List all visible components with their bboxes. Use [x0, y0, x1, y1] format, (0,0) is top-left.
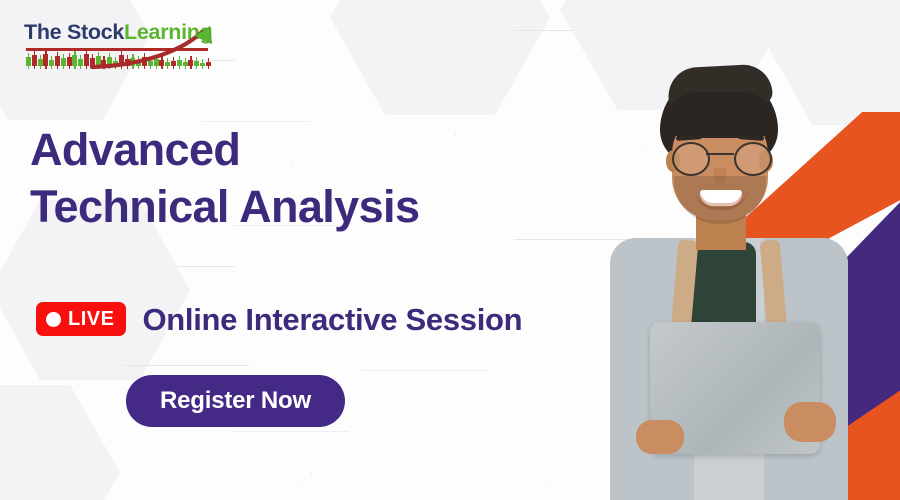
- candle-wick: [28, 53, 29, 69]
- candle-wick: [173, 57, 174, 69]
- candle-wick: [202, 59, 203, 69]
- candle-wick: [34, 51, 35, 69]
- logo-wordmark: The StockLearning: [24, 22, 224, 44]
- lens-left: [672, 142, 710, 176]
- candle-wick: [167, 58, 168, 69]
- candle: [142, 57, 147, 66]
- candle-wick: [208, 58, 209, 69]
- logo-text-secondary: Learning: [124, 20, 212, 44]
- candle-wick: [150, 57, 151, 69]
- candle: [113, 61, 118, 66]
- candle: [49, 60, 54, 66]
- candle-wick: [185, 58, 186, 69]
- candle: [107, 57, 112, 66]
- candle: [159, 60, 164, 66]
- candle-wick: [127, 55, 128, 69]
- candle-wick: [86, 50, 87, 69]
- candle-wick: [115, 57, 116, 69]
- candle-wick: [156, 55, 157, 69]
- candle: [96, 56, 101, 66]
- candlestick-chart-icon: [26, 52, 212, 68]
- promo-banner: The StockLearning Advanced Technical Ana…: [0, 0, 900, 500]
- candle-wick: [80, 55, 81, 69]
- candle-wick: [196, 57, 197, 69]
- glasses-bridge: [706, 153, 734, 155]
- candle-wick: [138, 56, 139, 69]
- candle: [136, 60, 141, 66]
- candle: [38, 59, 43, 66]
- candle-wick: [45, 50, 46, 69]
- brand-logo[interactable]: The StockLearning: [24, 22, 224, 78]
- student-photo: [598, 72, 860, 500]
- live-session-row: LIVE Online Interactive Session: [36, 302, 522, 336]
- candle-wick: [144, 53, 145, 69]
- candle: [26, 57, 31, 66]
- candle: [90, 58, 95, 66]
- smile: [700, 190, 742, 206]
- live-badge-label: LIVE: [68, 309, 114, 329]
- candle: [148, 61, 153, 66]
- candle: [171, 61, 176, 66]
- candle: [183, 62, 188, 66]
- headline-line-1: Advanced: [30, 124, 240, 175]
- logo-text-primary: The Stock: [24, 20, 124, 44]
- candle: [101, 60, 106, 66]
- candle-wick: [63, 54, 64, 69]
- headline-line-2: Technical Analysis: [30, 179, 570, 236]
- candle-wick: [190, 56, 191, 69]
- hair-front: [664, 92, 776, 138]
- register-now-button[interactable]: Register Now: [126, 375, 345, 427]
- candle-wick: [179, 56, 180, 69]
- status-badge: LIVE: [36, 302, 126, 336]
- page-title: Advanced Technical Analysis: [30, 122, 570, 235]
- candle-wick: [132, 54, 133, 69]
- candle-wick: [161, 56, 162, 69]
- candle-wick: [74, 51, 75, 69]
- candle: [188, 60, 193, 66]
- candle-wick: [98, 52, 99, 69]
- candle: [154, 59, 159, 66]
- candle: [78, 59, 83, 66]
- candle-wick: [92, 54, 93, 69]
- candle: [125, 59, 130, 66]
- candle-wick: [121, 51, 122, 69]
- candle: [165, 62, 170, 66]
- candle-wick: [109, 53, 110, 69]
- candle: [61, 58, 66, 66]
- candle: [72, 55, 77, 66]
- candle: [194, 61, 199, 66]
- lens-right: [734, 142, 772, 176]
- live-dot-icon: [46, 312, 61, 327]
- candle-wick: [57, 52, 58, 69]
- hand-left: [636, 420, 684, 454]
- hand-right: [784, 402, 836, 442]
- subheading: Online Interactive Session: [142, 304, 522, 335]
- candle: [200, 63, 205, 66]
- candle: [206, 62, 211, 66]
- candle: [32, 55, 37, 66]
- candle: [55, 56, 60, 66]
- candle-wick: [103, 56, 104, 69]
- candle: [43, 54, 48, 66]
- candle-wick: [69, 53, 70, 69]
- candle: [119, 55, 124, 66]
- candle-wick: [40, 55, 41, 69]
- candle: [177, 60, 182, 66]
- candle-wick: [51, 56, 52, 69]
- candle: [67, 57, 72, 66]
- candle: [84, 54, 89, 66]
- logo-underline: [26, 48, 208, 51]
- candle: [130, 58, 135, 66]
